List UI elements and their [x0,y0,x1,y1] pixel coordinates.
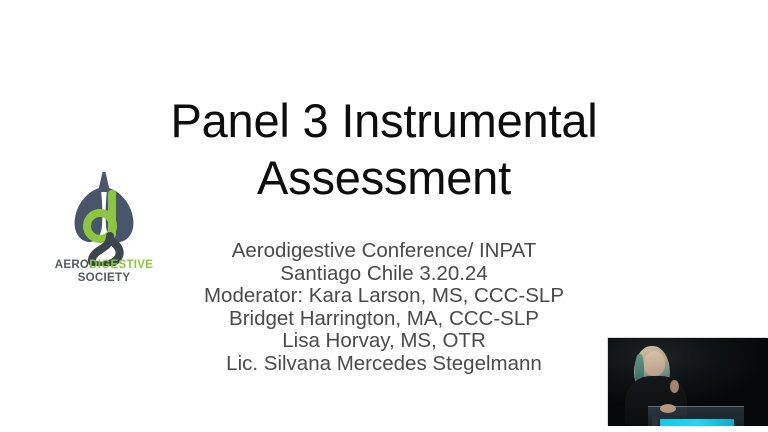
subtitle-line-presenter-1: Bridget Harrington, MA, CCC-SLP [64,308,704,331]
aerodigestive-society-logo: AERODIGESTIVE SOCIETY [44,166,164,296]
logo-wordmark-line-1: AERODIGESTIVE [44,259,164,272]
speaker-face [644,351,665,376]
slide-title: Panel 3 Instrumental Assessment [96,92,672,206]
presentation-slide: Panel 3 Instrumental Assessment Aerodige… [0,0,768,432]
title-line-1: Panel 3 Instrumental [96,92,672,149]
speaker-hand-on-podium [660,404,676,413]
title-line-2: Assessment [96,149,672,206]
aerodigestive-logo-icon [44,166,164,266]
speaker-hand-raised [670,380,679,393]
speaker-webcam-inset[interactable] [608,338,768,426]
logo-word-digestive: DIGESTIVE [89,259,153,271]
logo-wordmark: AERODIGESTIVE SOCIETY [44,259,164,285]
logo-wordmark-line-2: SOCIETY [44,272,164,285]
podium-leg [652,416,658,426]
podium-light-strip [660,419,734,426]
logo-word-aero: AERO [55,259,89,271]
